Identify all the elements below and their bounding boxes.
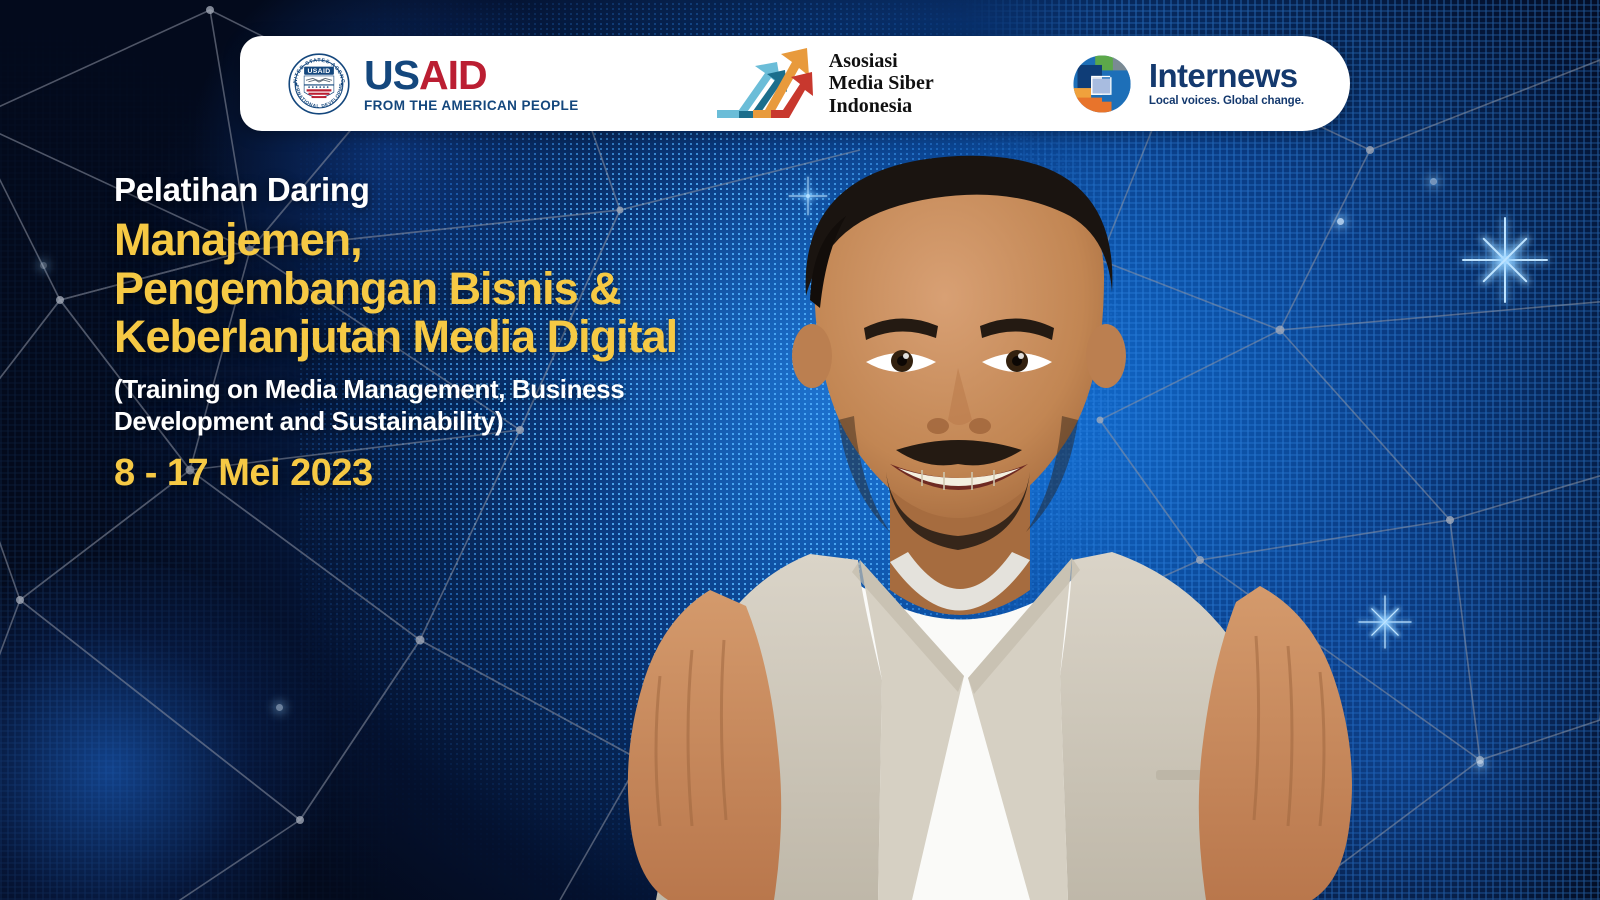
internews-wordmark: Internews Local voices. Global change. <box>1149 59 1304 108</box>
usaid-wordmark-us: US <box>364 52 419 98</box>
light-dot-4 <box>276 704 283 711</box>
light-dot-3 <box>1477 760 1484 767</box>
usaid-wordmark: USAID FROM THE AMERICAN PEOPLE <box>364 55 579 113</box>
internews-name: Internews <box>1149 59 1304 92</box>
light-dot-5 <box>40 262 47 269</box>
usaid-seal-icon: UNITED STATES AGENCY INTERNATIONAL DEVEL… <box>288 53 350 115</box>
svg-text:USAID: USAID <box>307 68 330 75</box>
subtitle-line-2: Development and Sustainability) <box>114 406 814 438</box>
event-dates: 8 - 17 Mei 2023 <box>114 452 814 495</box>
title-line-1: Manajemen, <box>114 216 814 265</box>
title-line-2: Pengembangan Bisnis & <box>114 265 814 314</box>
headline-block: Pelatihan Daring Manajemen, Pengembangan… <box>114 172 814 495</box>
usaid-logo: UNITED STATES AGENCY INTERNATIONAL DEVEL… <box>288 53 579 115</box>
amsi-line-2: Media Siber <box>829 72 934 94</box>
amsi-arrows-icon <box>713 44 819 124</box>
kicker-text: Pelatihan Daring <box>114 172 814 208</box>
internews-tagline: Local voices. Global change. <box>1149 96 1304 108</box>
title-line-3: Keberlanjutan Media Digital <box>114 313 814 362</box>
amsi-wordmark: Asosiasi Media Siber Indonesia <box>829 50 934 117</box>
amsi-line-3: Indonesia <box>829 95 934 117</box>
amsi-line-1: Asosiasi <box>829 50 934 72</box>
internews-logo: Internews Local voices. Global change. <box>1068 50 1304 118</box>
promotional-banner: UNITED STATES AGENCY INTERNATIONAL DEVEL… <box>0 0 1600 900</box>
partner-logo-bar: UNITED STATES AGENCY INTERNATIONAL DEVEL… <box>240 36 1350 131</box>
amsi-logo: Asosiasi Media Siber Indonesia <box>713 44 934 124</box>
usaid-tagline: FROM THE AMERICAN PEOPLE <box>364 99 579 113</box>
event-title: Manajemen, Pengembangan Bisnis & Keberla… <box>114 216 814 362</box>
subtitle-line-1: (Training on Media Management, Business <box>114 374 814 406</box>
usaid-wordmark-aid: AID <box>419 52 487 98</box>
event-subtitle: (Training on Media Management, Business … <box>114 374 814 437</box>
internews-mark-icon <box>1068 50 1136 118</box>
